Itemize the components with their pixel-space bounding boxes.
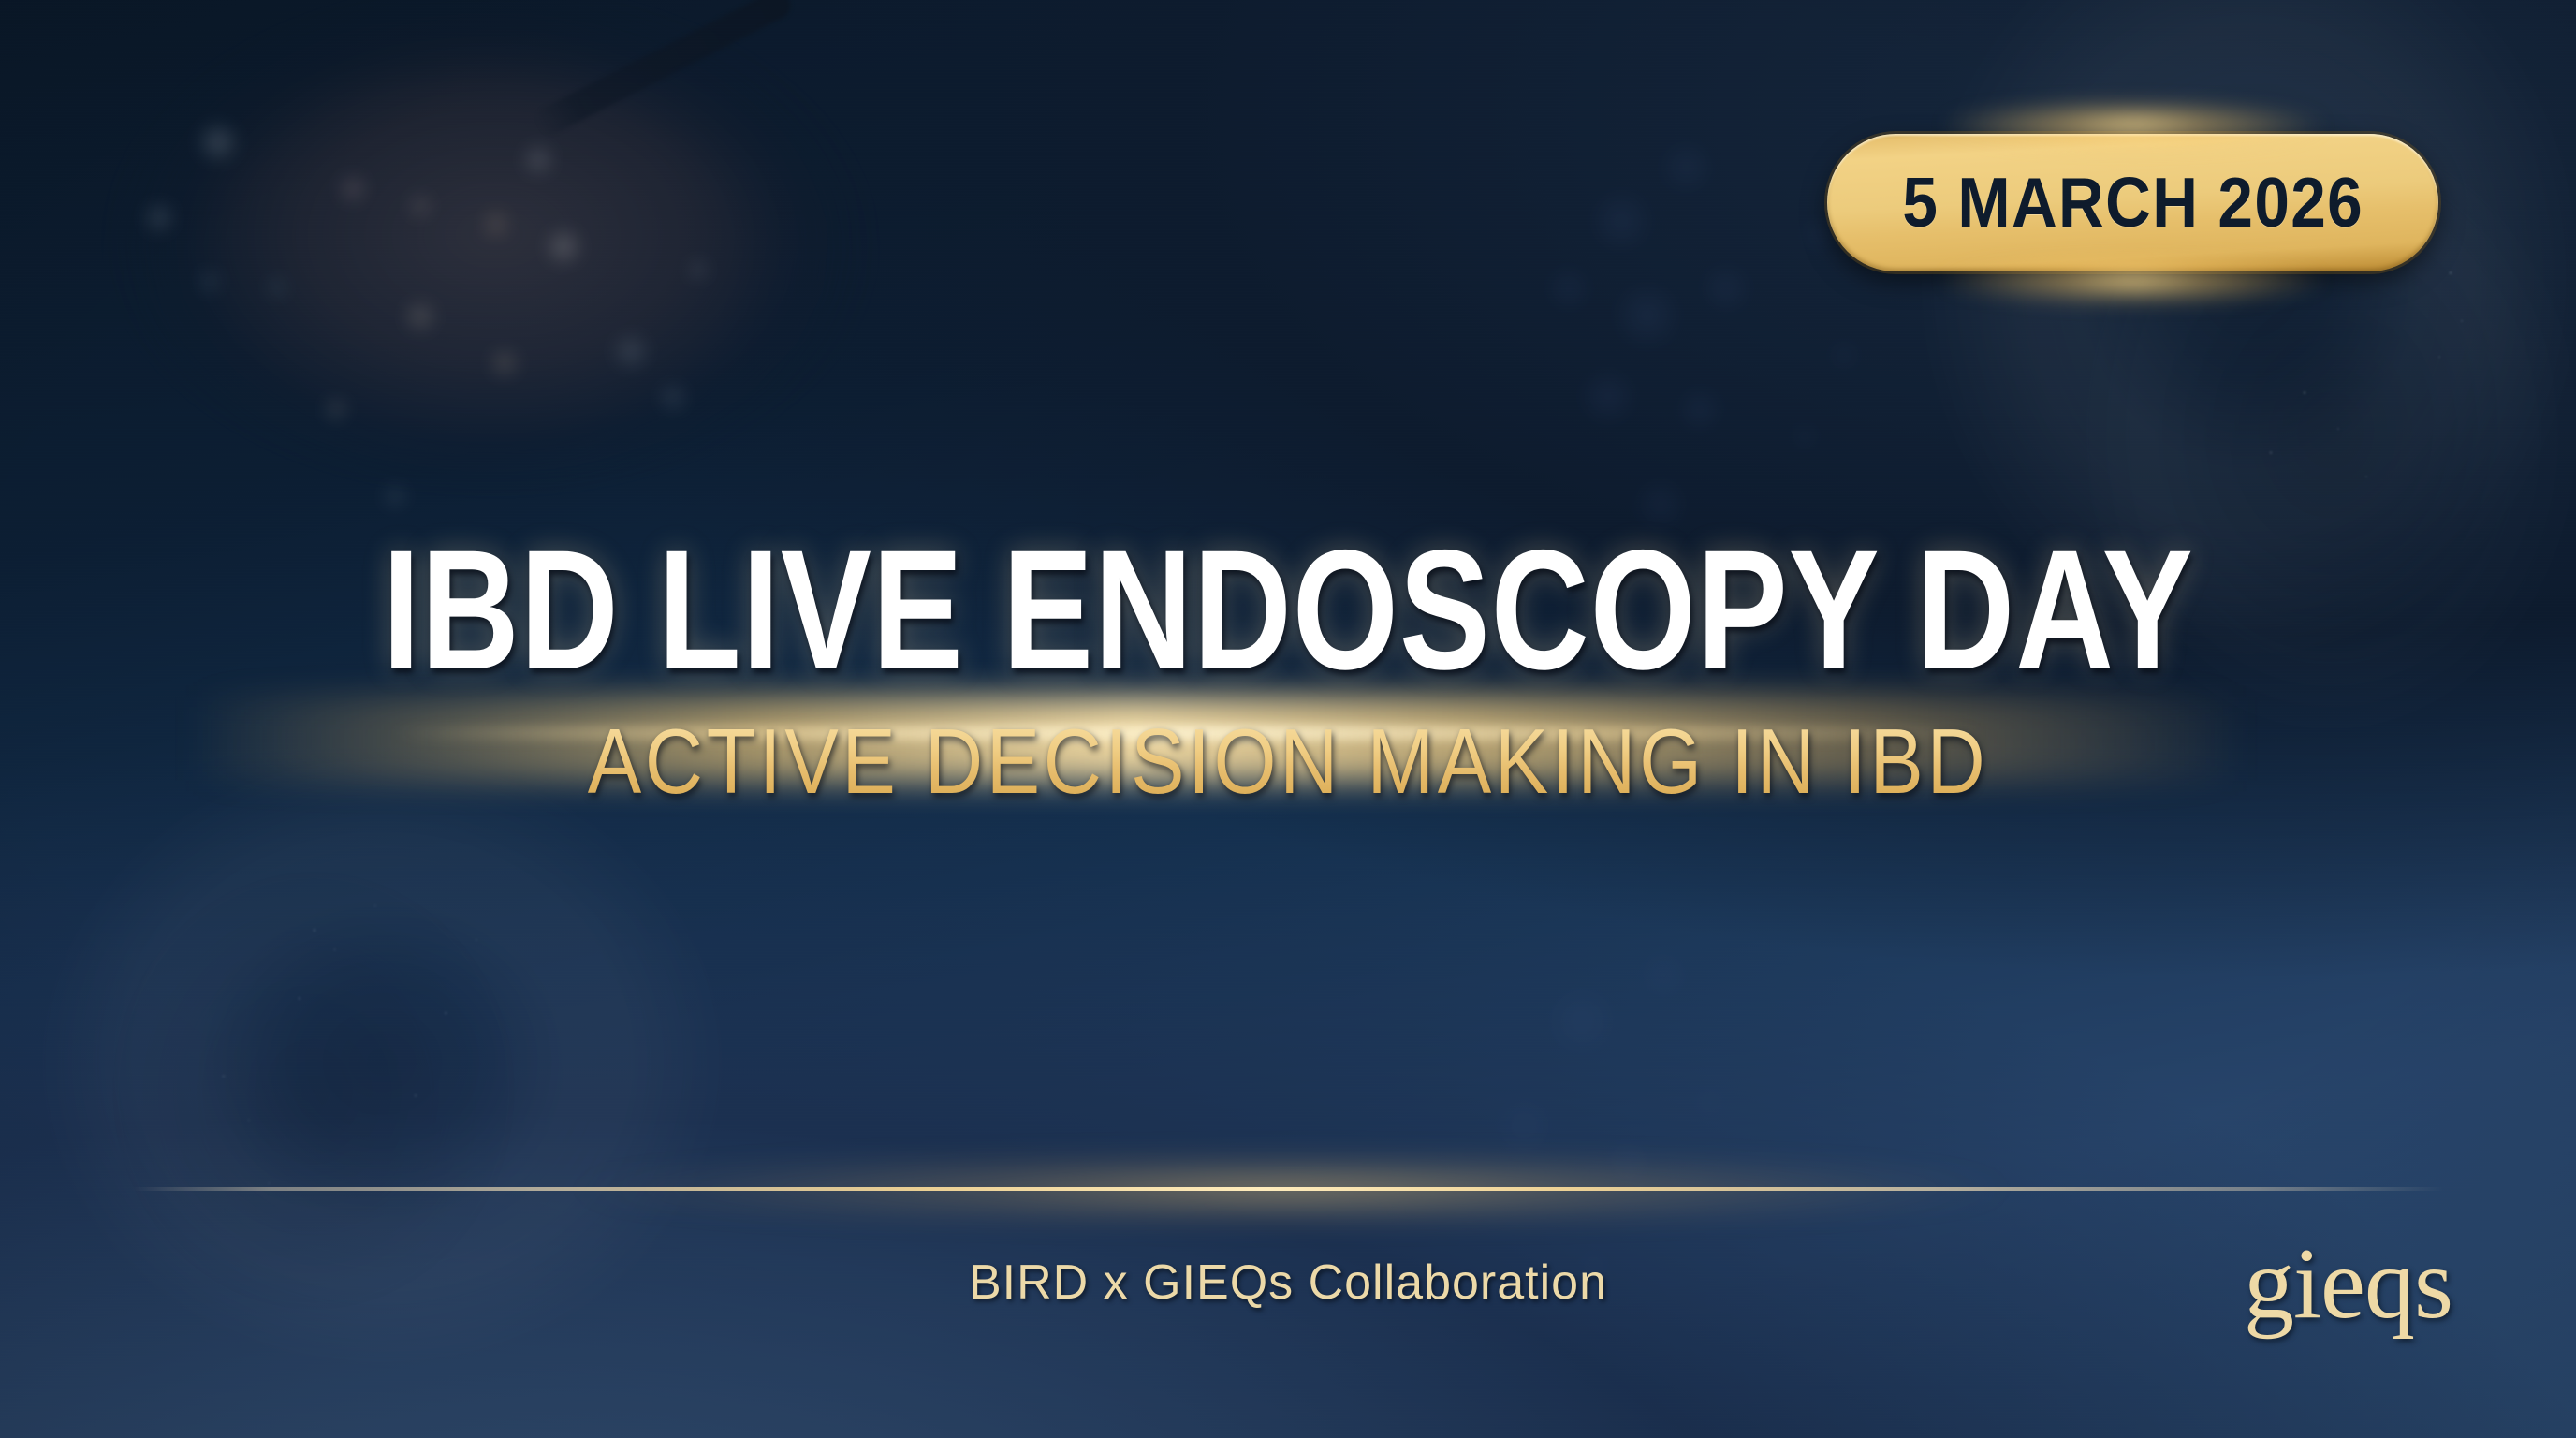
page-subtitle: ACTIVE DECISION MAKING IN IBD (154, 715, 2422, 807)
headline-block: IBD LIVE ENDOSCOPY DAY ACTIVE DECISION M… (0, 524, 2576, 807)
page-title: IBD LIVE ENDOSCOPY DAY (257, 524, 2319, 695)
date-badge-label: 5 MARCH 2026 (1902, 168, 2364, 238)
divider (133, 1187, 2443, 1191)
event-promo-banner: 5 MARCH 2026 IBD LIVE ENDOSCOPY DAY ACTI… (0, 0, 2576, 1438)
date-badge[interactable]: 5 MARCH 2026 (1827, 134, 2438, 271)
footer-credit: BIRD x GIEQs Collaboration (0, 1255, 2576, 1311)
gieqs-logo: gieqs (2244, 1234, 2452, 1335)
